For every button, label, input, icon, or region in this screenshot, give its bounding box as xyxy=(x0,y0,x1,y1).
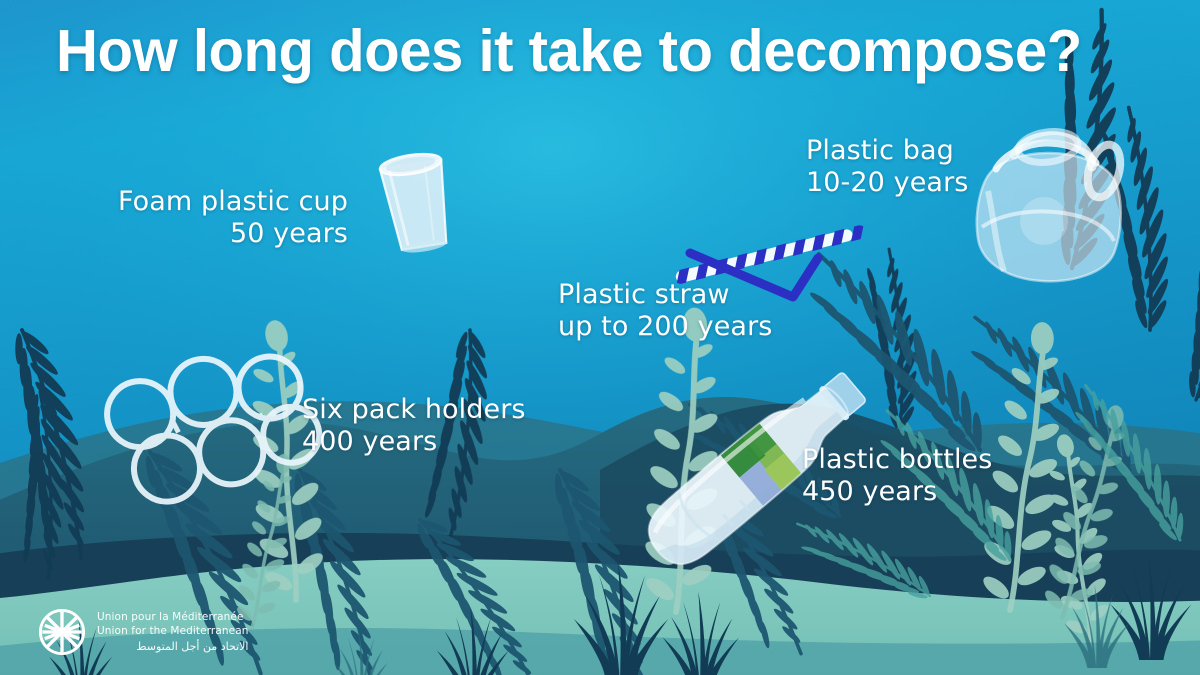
infographic-canvas: How long does it take to decompose? Foam… xyxy=(0,0,1200,675)
label-foam-cup-duration: 50 years xyxy=(118,218,348,250)
label-plastic-bag-duration: 10-20 years xyxy=(806,167,968,199)
label-plastic-bag: Plastic bag 10-20 years xyxy=(806,135,968,199)
label-six-pack-holders-duration: 400 years xyxy=(302,426,526,458)
ufm-logo-icon xyxy=(38,608,86,656)
label-plastic-straw: Plastic straw up to 200 years xyxy=(558,279,772,343)
ufm-name-fr: Union pour la Méditerranée xyxy=(97,610,248,624)
ufm-name-en: Union for the Mediterranean xyxy=(97,624,248,638)
label-plastic-bag-name: Plastic bag xyxy=(806,135,954,166)
label-six-pack-holders: Six pack holders 400 years xyxy=(302,394,526,458)
label-six-pack-holders-name: Six pack holders xyxy=(302,394,526,425)
label-plastic-bottles-name: Plastic bottles xyxy=(802,444,992,475)
ufm-logo-text: Union pour la Méditerranée Union for the… xyxy=(97,610,248,654)
ufm-logo: Union pour la Méditerranée Union for the… xyxy=(38,608,248,656)
label-foam-cup-name: Foam plastic cup xyxy=(118,186,348,217)
label-foam-cup: Foam plastic cup 50 years xyxy=(118,186,348,250)
label-plastic-straw-name: Plastic straw xyxy=(558,279,730,310)
label-plastic-bottles: Plastic bottles 450 years xyxy=(802,444,992,508)
label-plastic-straw-duration: up to 200 years xyxy=(558,311,772,343)
page-title: How long does it take to decompose? xyxy=(56,22,1082,81)
label-plastic-bottles-duration: 450 years xyxy=(802,476,992,508)
ufm-name-ar: الاتحاد من أجل المتوسط xyxy=(97,639,248,654)
